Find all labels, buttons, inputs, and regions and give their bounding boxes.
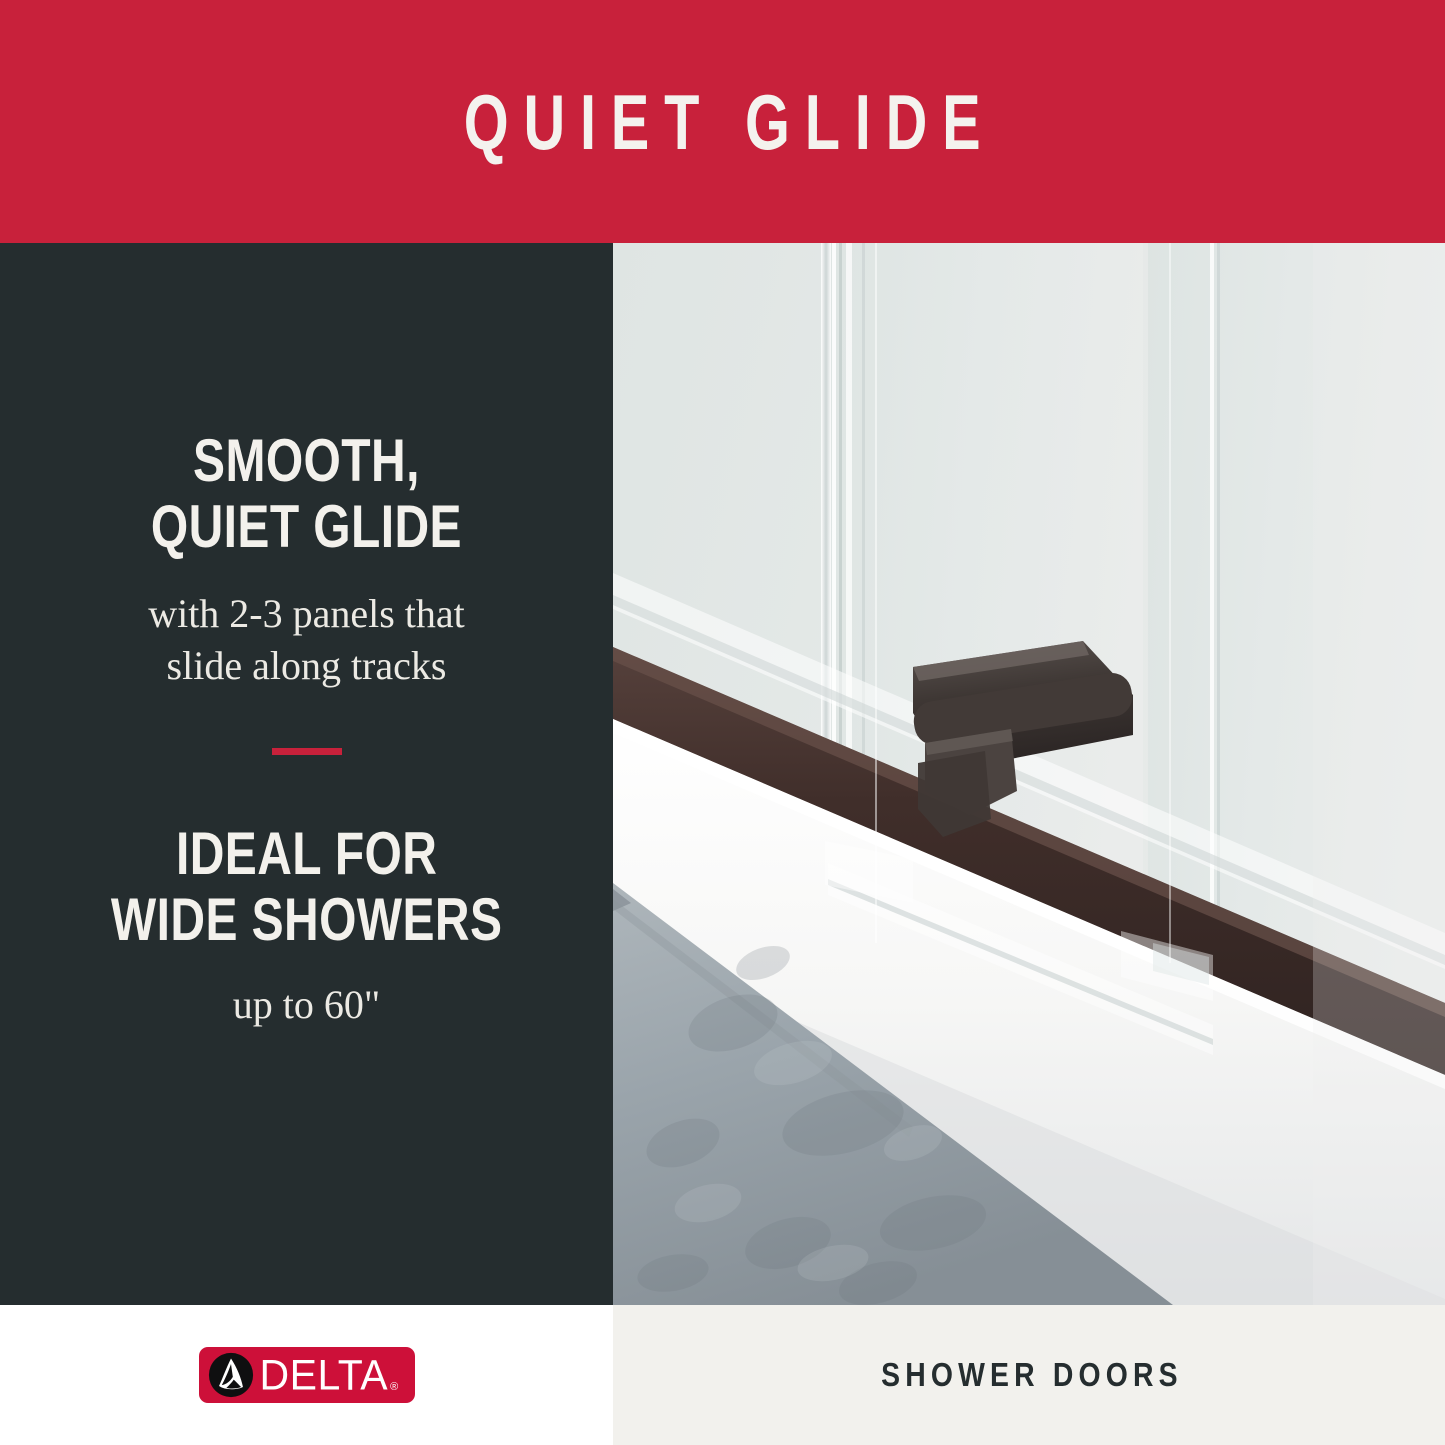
feature-subtext-secondary: up to 60" (233, 979, 380, 1031)
header-banner: QUIET GLIDE (0, 0, 1445, 243)
product-feature-poster: QUIET GLIDE SMOOTH, QUIET GLIDE with 2-3… (0, 0, 1445, 1445)
feature-heading-primary: SMOOTH, QUIET GLIDE (151, 428, 462, 560)
shower-door-illustration (613, 243, 1445, 1305)
product-photo (613, 243, 1445, 1305)
delta-wordmark: DELTA (260, 1354, 389, 1397)
feature-text-panel: SMOOTH, QUIET GLIDE with 2-3 panels that… (0, 243, 613, 1305)
feature-subtext-primary: with 2-3 panels that slide along tracks (148, 588, 465, 692)
footer: DELTA ® SHOWER DOORS (0, 1305, 1445, 1445)
page-title: QUIET GLIDE (449, 83, 995, 161)
delta-triangle-icon (208, 1352, 254, 1398)
section-divider (272, 748, 342, 755)
delta-logo[interactable]: DELTA ® (199, 1347, 415, 1403)
registered-trademark-icon: ® (390, 1382, 398, 1393)
footer-brand-area: DELTA ® (0, 1305, 613, 1445)
main-content: SMOOTH, QUIET GLIDE with 2-3 panels that… (0, 243, 1445, 1305)
category-label: SHOWER DOORS (876, 1356, 1183, 1394)
feature-heading-secondary: IDEAL FOR WIDE SHOWERS (111, 821, 502, 953)
footer-category-area: SHOWER DOORS (613, 1305, 1445, 1445)
